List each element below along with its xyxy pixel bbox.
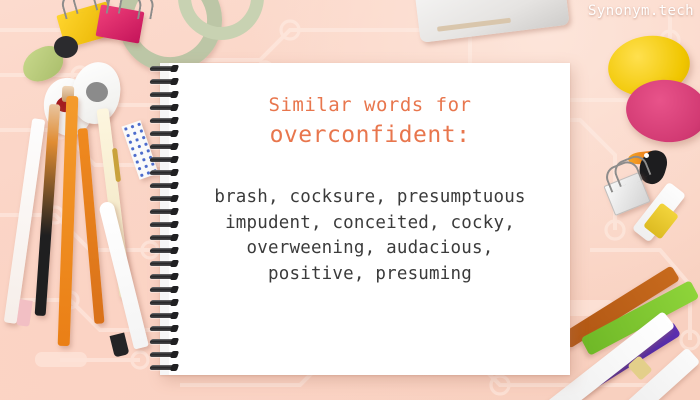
screenshot-root: Similar words for overconfident: brash, … xyxy=(0,0,700,400)
toucan-eye xyxy=(644,153,649,158)
synonym-line: brash, cocksure, presumptuous xyxy=(170,185,570,211)
synonym-line: positive, presuming xyxy=(170,262,570,288)
site-logo[interactable]: Synonym.tech xyxy=(588,3,694,19)
heading-line-1: Similar words for xyxy=(170,94,570,116)
synonym-line: impudent, conceited, cocky, xyxy=(170,211,570,237)
bird-figurine-head xyxy=(54,36,78,58)
synonym-list: brash, cocksure, presumptuous impudent, … xyxy=(170,185,570,287)
synonym-line: overweening, audacious, xyxy=(170,236,570,262)
heading-line-2: overconfident: xyxy=(170,122,570,148)
camera-trim xyxy=(437,18,511,32)
camera-lens xyxy=(464,0,526,2)
notepad-content: Similar words for overconfident: brash, … xyxy=(170,63,570,375)
